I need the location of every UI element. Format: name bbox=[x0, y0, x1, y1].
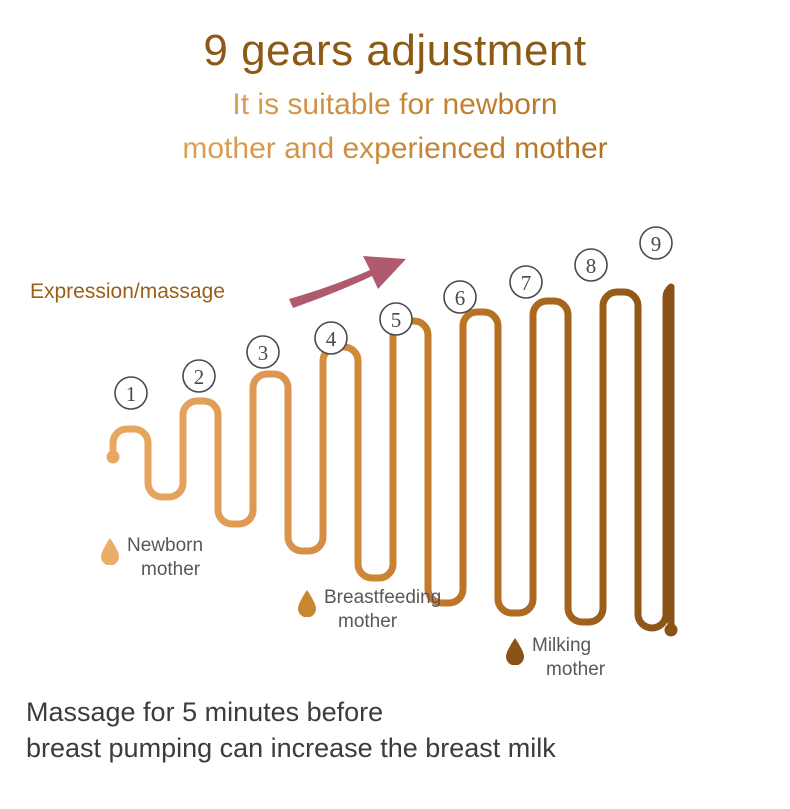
gear-badge-2: 2 bbox=[183, 360, 215, 392]
gear-badge-label-1: 1 bbox=[126, 382, 137, 406]
droplet-icon bbox=[100, 538, 120, 570]
droplet-icon bbox=[505, 638, 525, 670]
gear-badge-label-7: 7 bbox=[521, 271, 532, 295]
legend-label-newborn-line2: mother bbox=[127, 558, 203, 582]
gear-badge-label-8: 8 bbox=[586, 254, 597, 278]
gear-badge-8: 8 bbox=[575, 249, 607, 281]
wave-end-dot bbox=[665, 624, 678, 637]
gear-badge-label-2: 2 bbox=[194, 365, 205, 389]
up-right-arrow-icon bbox=[289, 256, 406, 308]
legend-label-newborn-line1: Newborn bbox=[127, 535, 203, 556]
gear-badge-label-4: 4 bbox=[326, 327, 337, 351]
legend-item-newborn-mother: Newborn mother bbox=[100, 534, 203, 582]
legend-label-newborn: Newborn mother bbox=[127, 534, 203, 582]
droplet-icon bbox=[297, 590, 317, 622]
legend-label-milking-line2: mother bbox=[532, 658, 605, 682]
gear-badge-label-6: 6 bbox=[455, 286, 466, 310]
footer-caption: Massage for 5 minutes before breast pump… bbox=[26, 694, 556, 766]
gear-wave-chart: 1 2 3 4 5 bbox=[0, 0, 790, 804]
gear-badge-label-9: 9 bbox=[651, 232, 662, 256]
gear-badge-4: 4 bbox=[315, 322, 347, 354]
expression-massage-label: Expression/massage bbox=[30, 280, 225, 304]
infographic-canvas: 9 gears adjustment It is suitable for ne… bbox=[0, 0, 790, 804]
legend-label-milking-line1: Milking bbox=[532, 635, 591, 656]
gear-badge-6: 6 bbox=[444, 281, 476, 313]
footer-caption-line2: breast pumping can increase the breast m… bbox=[26, 730, 556, 766]
gear-badge-1: 1 bbox=[115, 377, 147, 409]
legend-label-milking: Milking mother bbox=[532, 634, 605, 682]
gear-badge-3: 3 bbox=[247, 336, 279, 368]
legend-label-breastfeeding-line2: mother bbox=[324, 610, 441, 634]
legend-item-breastfeeding-mother: Breastfeeding mother bbox=[297, 586, 441, 634]
gear-badge-7: 7 bbox=[510, 266, 542, 298]
wave-start-dot bbox=[107, 451, 120, 464]
gear-badge-label-5: 5 bbox=[391, 308, 402, 332]
legend-item-milking-mother: Milking mother bbox=[505, 634, 605, 682]
legend-label-breastfeeding-line1: Breastfeeding bbox=[324, 587, 441, 608]
footer-caption-line1: Massage for 5 minutes before bbox=[26, 694, 556, 730]
gear-badge-9: 9 bbox=[640, 227, 672, 259]
gear-badge-label-3: 3 bbox=[258, 341, 269, 365]
gear-badge-5: 5 bbox=[380, 303, 412, 335]
legend-label-breastfeeding: Breastfeeding mother bbox=[324, 586, 441, 634]
